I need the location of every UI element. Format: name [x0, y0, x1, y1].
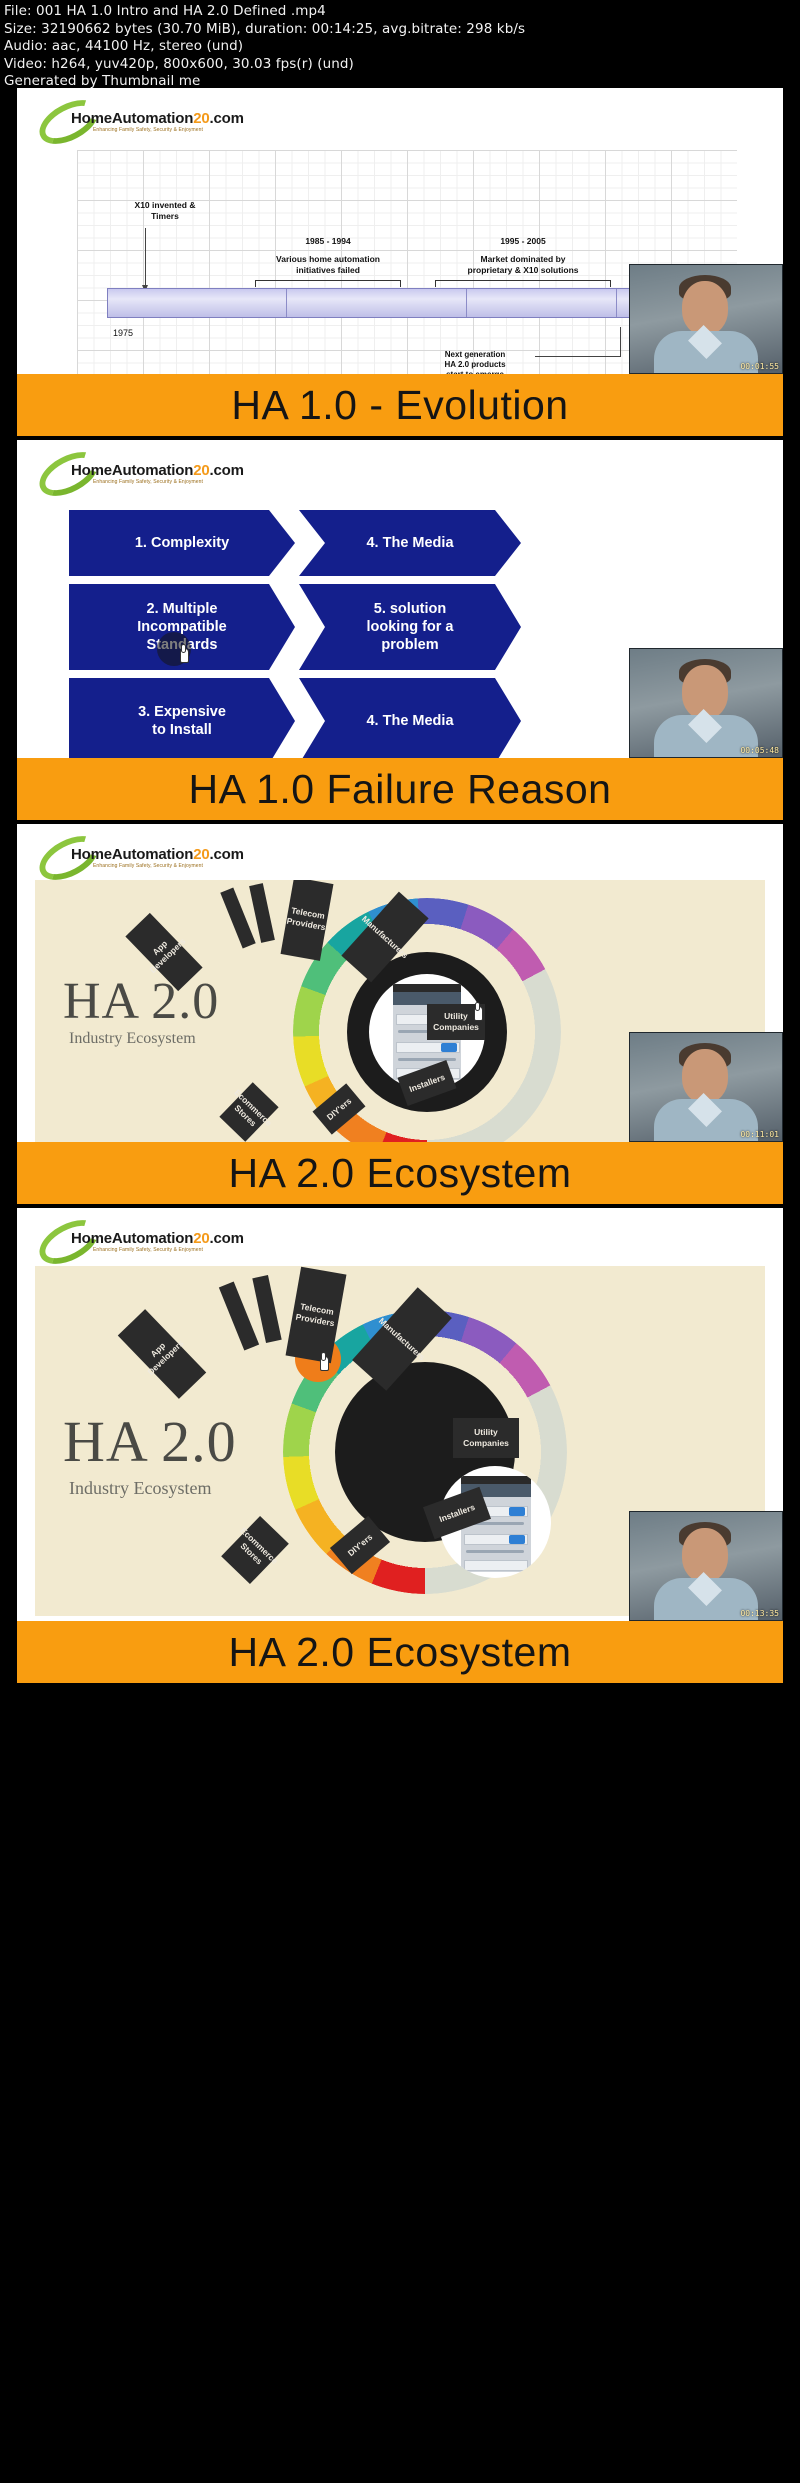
- eco-label-utility-companies: Utility Companies: [453, 1418, 519, 1458]
- logo-domain: .com: [210, 462, 244, 479]
- video-metadata-block: File: 001 HA 1.0 Intro and HA 2.0 Define…: [0, 0, 800, 88]
- ecosystem-subheading: Industry Ecosystem: [69, 1478, 211, 1499]
- webcam-overlay: 00:05:48: [629, 648, 783, 758]
- phone-toggle: [441, 1043, 457, 1052]
- timestamp-badge: 00:11:01: [740, 1130, 779, 1139]
- phone-slider: [398, 1058, 456, 1061]
- chevron-complexity[interactable]: 1. Complexity: [69, 510, 295, 576]
- meta-audio: Audio: aac, 44100 Hz, stereo (und): [4, 38, 796, 56]
- slide-3-body: HomeAutomation20.com Enhancing Family Sa…: [17, 824, 783, 1142]
- slide-3-title-bar: HA 2.0 Ecosystem: [17, 1142, 783, 1204]
- logo-text: HomeAutomation20.com: [71, 110, 244, 127]
- timestamp-badge: 00:01:55: [740, 362, 779, 371]
- timeline-period2-text: Market dominated by proprietary & X10 so…: [421, 254, 625, 276]
- logo-name: HomeAutomation: [71, 846, 193, 863]
- logo-number: 20: [193, 846, 209, 863]
- brand-logo: HomeAutomation20.com Enhancing Family Sa…: [37, 1222, 227, 1264]
- logo-number: 20: [193, 110, 209, 127]
- cursor-finger: [181, 644, 186, 653]
- logo-tagline: Enhancing Family Safety, Security & Enjo…: [93, 479, 203, 485]
- phone-toggle: [509, 1507, 525, 1516]
- eco-label-app-developers: App Developers: [118, 1309, 206, 1399]
- logo-text: HomeAutomation20.com: [71, 462, 244, 479]
- phone-statusbar: [393, 984, 461, 992]
- logo-tagline: Enhancing Family Safety, Security & Enjo…: [93, 1247, 203, 1253]
- timeline-x10-arrow: [145, 228, 146, 286]
- slide-4-title: HA 2.0 Ecosystem: [229, 1629, 572, 1676]
- timestamp-badge: 00:05:48: [740, 746, 779, 755]
- meta-video: Video: h264, yuv420p, 800x600, 30.03 fps…: [4, 56, 796, 74]
- chevron-solution-problem[interactable]: 5. solution looking for a problem: [299, 584, 521, 670]
- logo-name: HomeAutomation: [71, 110, 193, 127]
- slide-3: HomeAutomation20.com Enhancing Family Sa…: [17, 824, 783, 1204]
- logo-tagline: Enhancing Family Safety, Security & Enjo…: [93, 127, 203, 133]
- timeline-period1-brace: [255, 280, 401, 287]
- webcam-overlay: 00:13:35: [629, 1511, 783, 1621]
- cursor-icon: [317, 1352, 333, 1372]
- logo-number: 20: [193, 1230, 209, 1247]
- slide-1-title-bar: HA 1.0 - Evolution: [17, 374, 783, 436]
- cursor-icon: [177, 644, 193, 664]
- logo-name: HomeAutomation: [71, 462, 193, 479]
- logo-domain: .com: [210, 110, 244, 127]
- timeline-period2-years: 1995 - 2005: [435, 236, 611, 247]
- slide-2: HomeAutomation20.com Enhancing Family Sa…: [17, 440, 783, 820]
- webcam-overlay: 00:11:01: [629, 1032, 783, 1142]
- eco-label-ecommerce-stores: Ecommerce Stores: [219, 1082, 278, 1142]
- timeline-period1-years: 1985 - 1994: [253, 236, 403, 247]
- meta-file: File: 001 HA 1.0 Intro and HA 2.0 Define…: [4, 3, 796, 21]
- logo-number: 20: [193, 462, 209, 479]
- timeline-start-year: 1975: [113, 328, 133, 338]
- eco-tick-1: [219, 1281, 259, 1350]
- slide-2-body: HomeAutomation20.com Enhancing Family Sa…: [17, 440, 783, 758]
- chevron-media-bottom[interactable]: 4. The Media: [299, 678, 521, 764]
- logo-domain: .com: [210, 846, 244, 863]
- logo-tagline: Enhancing Family Safety, Security & Enjo…: [93, 863, 203, 869]
- logo-text: HomeAutomation20.com: [71, 846, 244, 863]
- timeline-divider: [286, 289, 287, 317]
- cursor-icon: [471, 1002, 487, 1022]
- phone-toggle: [509, 1535, 525, 1544]
- slide-1-title: HA 1.0 - Evolution: [231, 382, 568, 429]
- logo-name: HomeAutomation: [71, 1230, 193, 1247]
- slide-1: HomeAutomation20.com Enhancing Family Sa…: [17, 88, 783, 436]
- meta-size: Size: 32190662 bytes (30.70 MiB), durati…: [4, 21, 796, 39]
- timeline-divider: [616, 289, 617, 317]
- ecosystem-subheading: Industry Ecosystem: [69, 1030, 196, 1048]
- phone-statusbar: [461, 1476, 531, 1484]
- chevron-expensive[interactable]: 3. Expensive to Install: [69, 678, 295, 764]
- slide-1-body: HomeAutomation20.com Enhancing Family Sa…: [17, 88, 783, 374]
- timeline-period1-text: Various home automation initiatives fail…: [237, 254, 419, 276]
- thumbnail-sheet: File: 001 HA 1.0 Intro and HA 2.0 Define…: [0, 0, 800, 2483]
- timeline-divider: [466, 289, 467, 317]
- chevron-media-top[interactable]: 4. The Media: [299, 510, 521, 576]
- slide-4-body: HomeAutomation20.com Enhancing Family Sa…: [17, 1208, 783, 1621]
- webcam-overlay: 00:01:55: [629, 264, 783, 374]
- cursor-finger: [475, 1002, 480, 1011]
- logo-domain: .com: [210, 1230, 244, 1247]
- timeline-nextgen-leader: [535, 356, 621, 357]
- brand-logo: HomeAutomation20.com Enhancing Family Sa…: [37, 102, 227, 144]
- timeline-x10-label: X10 invented & Timers: [117, 200, 213, 222]
- logo-text: HomeAutomation20.com: [71, 1230, 244, 1247]
- ecosystem-heading: HA 2.0: [63, 1408, 237, 1475]
- timeline-period2-brace: [435, 280, 611, 287]
- eco-tick-2: [249, 883, 275, 943]
- phone-list-row: [464, 1560, 528, 1571]
- slide-2-title: HA 1.0 Failure Reason: [188, 766, 611, 813]
- slide-2-title-bar: HA 1.0 Failure Reason: [17, 758, 783, 820]
- slide-3-title: HA 2.0 Ecosystem: [229, 1150, 572, 1197]
- ecosystem-heading: HA 2.0: [63, 972, 219, 1031]
- brand-logo: HomeAutomation20.com Enhancing Family Sa…: [37, 838, 227, 880]
- timeline-bar: [107, 288, 667, 318]
- brand-logo: HomeAutomation20.com Enhancing Family Sa…: [37, 454, 227, 496]
- slide-4-title-bar: HA 2.0 Ecosystem: [17, 1621, 783, 1683]
- slide-4: HomeAutomation20.com Enhancing Family Sa…: [17, 1208, 783, 1683]
- phone-slider: [466, 1550, 524, 1553]
- cursor-finger: [321, 1352, 326, 1361]
- timestamp-badge: 00:13:35: [740, 1609, 779, 1618]
